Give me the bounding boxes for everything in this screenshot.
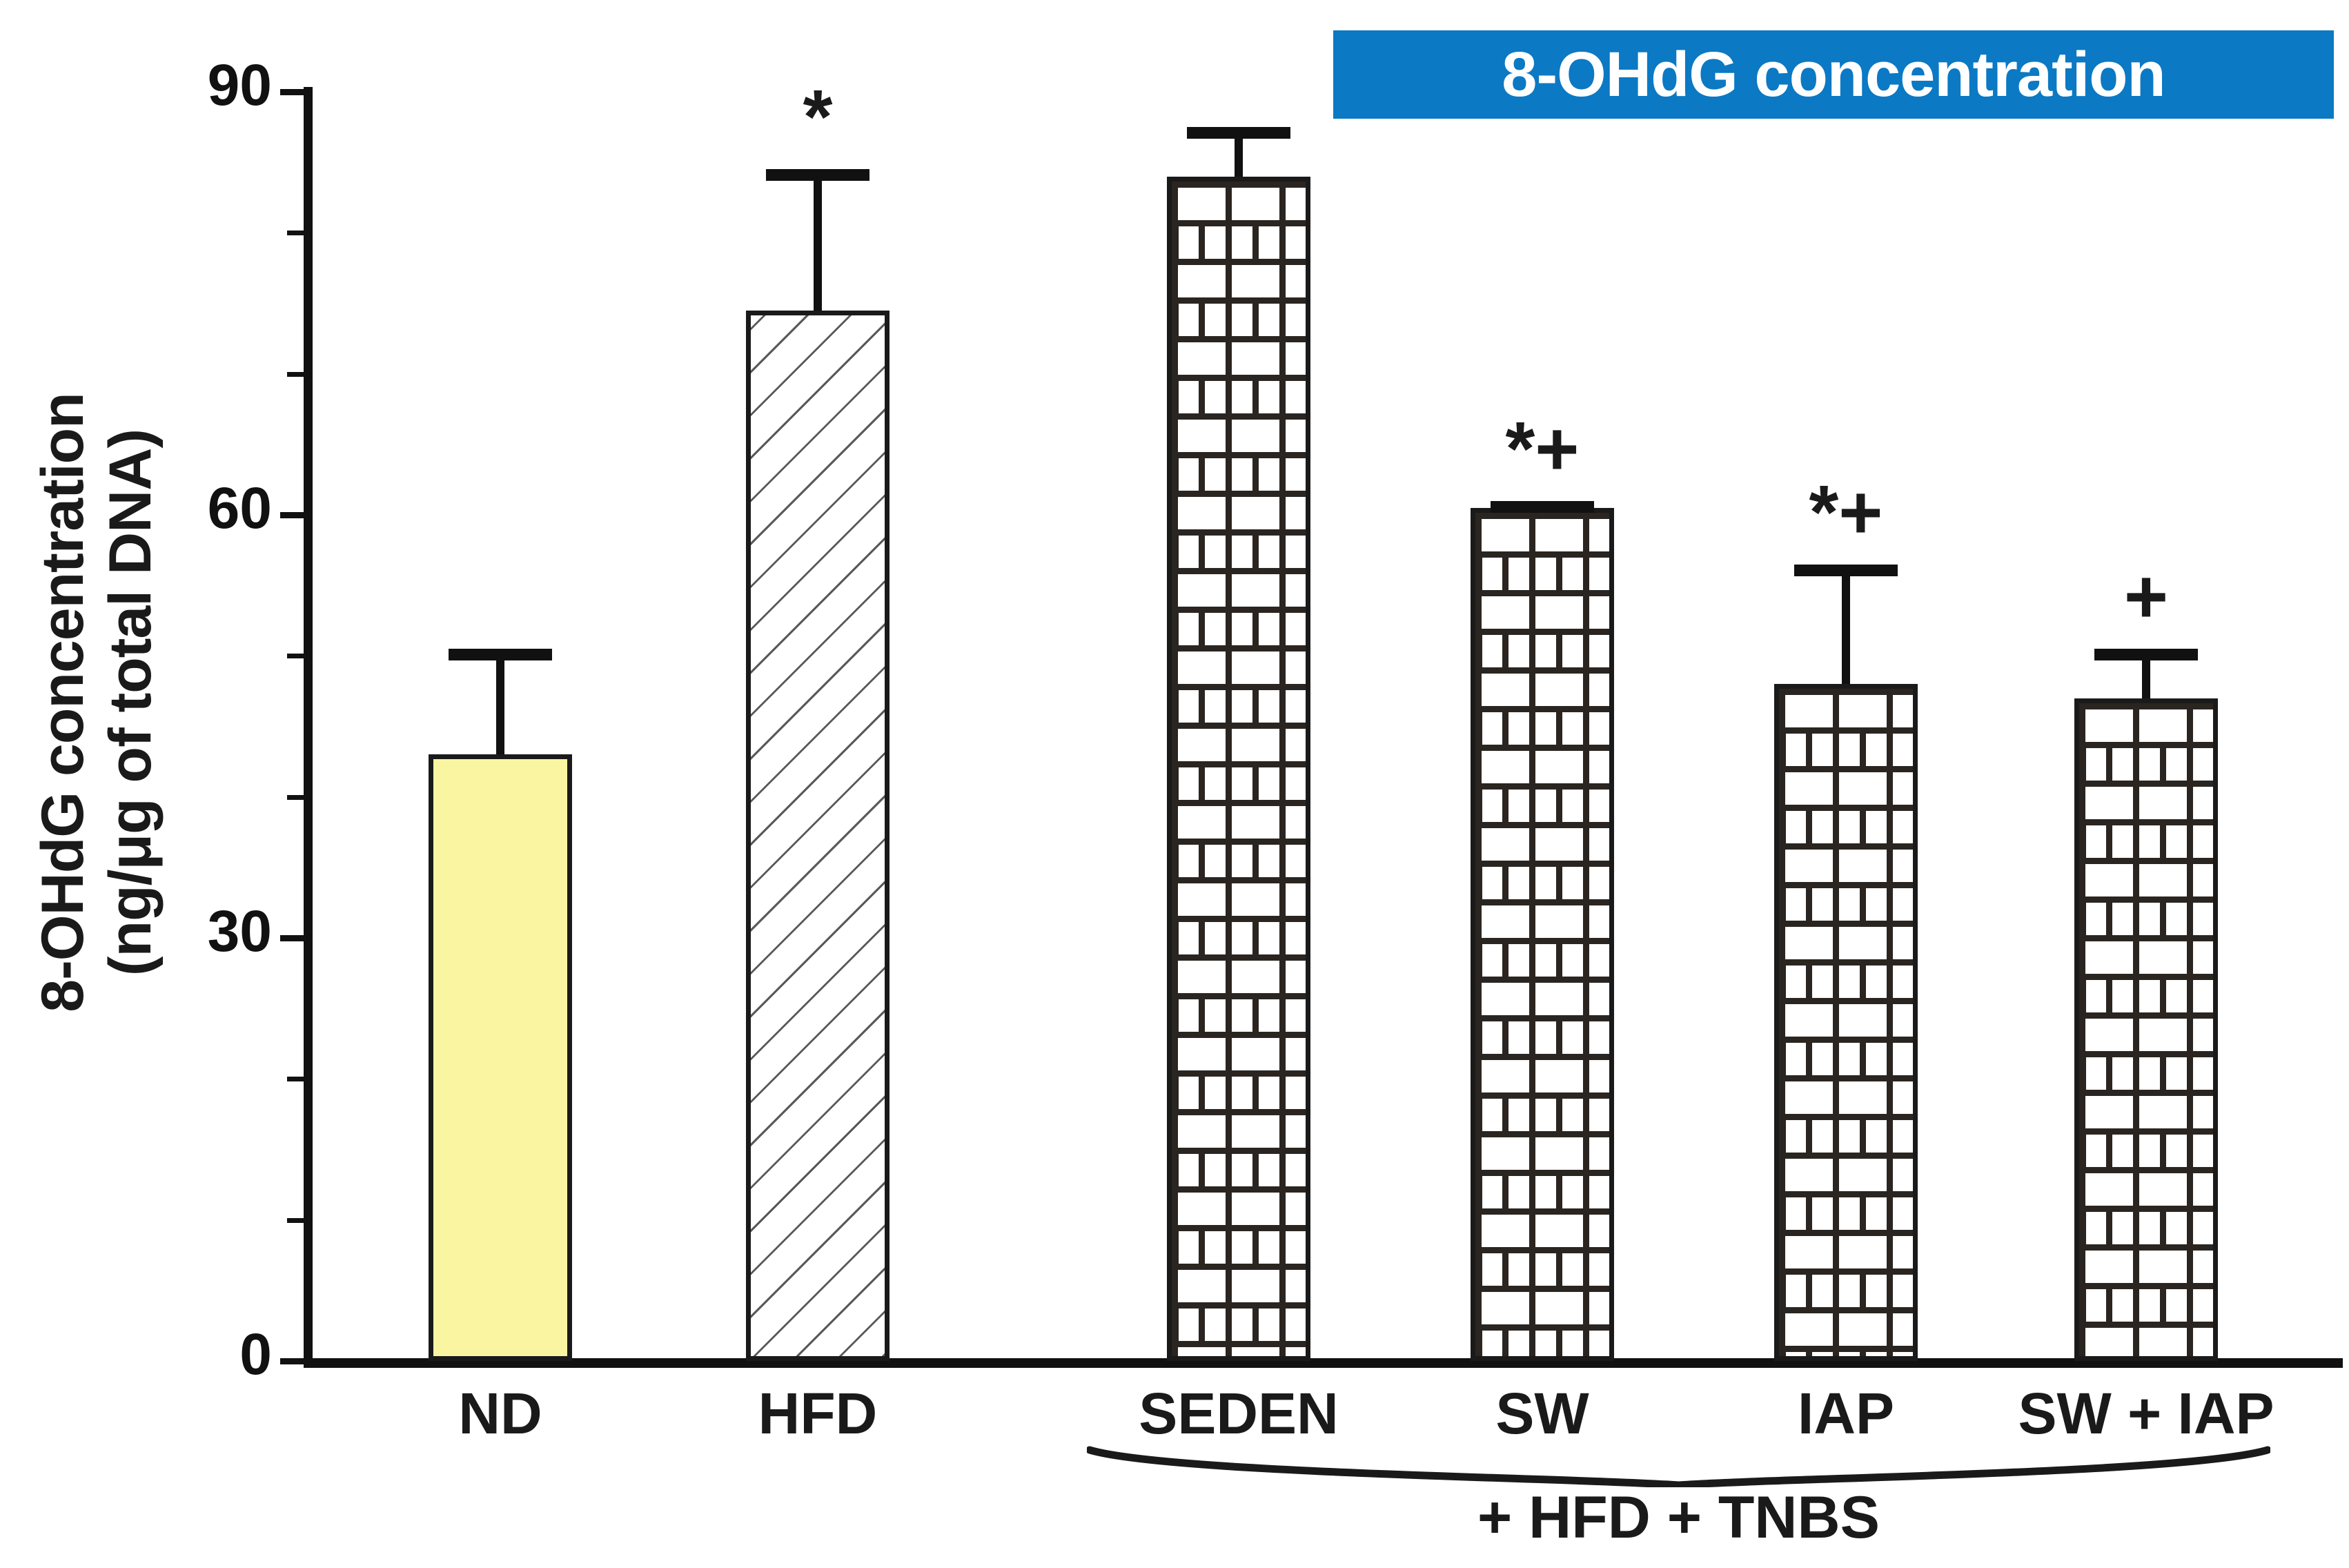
- y-tick-label: 0: [65, 1321, 272, 1388]
- y-tick-label: 90: [65, 52, 272, 119]
- y-tick-major: [280, 1358, 304, 1364]
- error-bar-cap: [1187, 127, 1290, 139]
- y-tick-major: [280, 512, 304, 518]
- bar-iap: [1774, 684, 1918, 1361]
- group-bracket-label: + HFD + TNBS: [1087, 1484, 2270, 1552]
- y-tick-major: [280, 89, 304, 95]
- y-tick-minor: [287, 231, 304, 235]
- y-tick-label: 60: [65, 475, 272, 542]
- y-tick-minor: [287, 654, 304, 658]
- significance-marker: *+: [1404, 411, 1680, 487]
- error-bar-cap: [1794, 565, 1898, 576]
- bar-sw: [1471, 508, 1614, 1361]
- y-tick-minor: [287, 1077, 304, 1081]
- brick-pattern-overlay: [2079, 703, 2213, 1356]
- group-bracket-icon: [1087, 1446, 2270, 1487]
- chart-figure: 8-OHdG concentration 8-OHdG concentratio…: [0, 0, 2349, 1568]
- significance-marker: +: [2008, 559, 2284, 635]
- significance-marker: *+: [1708, 475, 1984, 551]
- brick-pattern-overlay: [1779, 689, 1913, 1356]
- x-tick-label: HFD: [576, 1380, 1059, 1447]
- error-bar-cap: [766, 169, 869, 181]
- brick-pattern-overlay: [1475, 513, 1609, 1356]
- y-tick-minor: [287, 1218, 304, 1223]
- x-tick-label: SW + IAP: [1905, 1380, 2349, 1447]
- bar-nd: [429, 754, 572, 1361]
- y-tick-label: 30: [65, 898, 272, 965]
- bar-sw-plus-iap: [2074, 698, 2218, 1361]
- bar-hfd: [746, 311, 890, 1361]
- error-bar-stem: [496, 649, 504, 754]
- error-bar-cap: [2094, 649, 2198, 660]
- error-bar-cap: [449, 649, 552, 660]
- plot-area: 0306090 **+*++ NDHFDSEDENSWIAPSW + IAP: [0, 0, 2349, 1568]
- error-bar-cap: [1491, 501, 1594, 513]
- bar-seden: [1167, 177, 1310, 1361]
- error-bar-stem: [814, 169, 822, 310]
- y-tick-major: [280, 935, 304, 941]
- error-bar-stem: [1842, 565, 1850, 685]
- brick-pattern-overlay: [1172, 182, 1306, 1356]
- y-tick-minor: [287, 795, 304, 800]
- x-axis-line: [304, 1358, 2343, 1368]
- significance-marker: *: [680, 79, 956, 155]
- y-axis-line: [304, 87, 313, 1368]
- y-tick-minor: [287, 372, 304, 377]
